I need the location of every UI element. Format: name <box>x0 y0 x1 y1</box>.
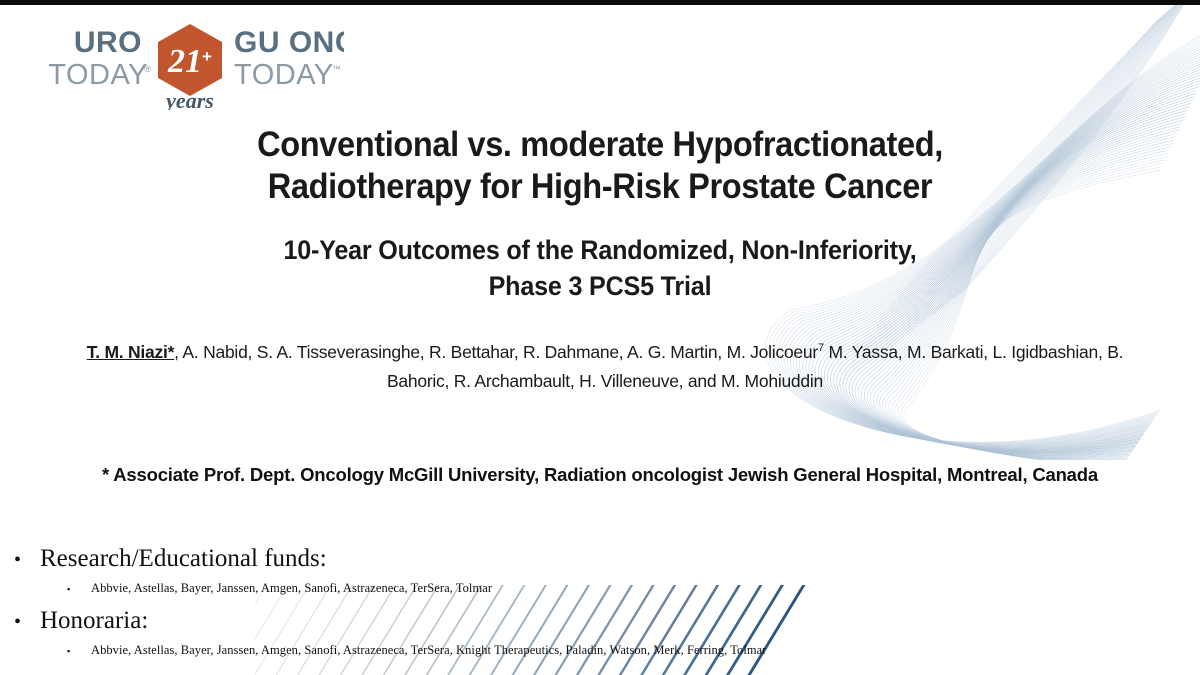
slide-subtitle: 10-Year Outcomes of the Randomized, Non-… <box>154 232 1047 304</box>
disclosure-sponsor-list: Abbvie, Astellas, Bayer, Janssen, Amgen,… <box>91 578 492 598</box>
author-list-segment-before-superscript: , A. Nabid, S. A. Tisseverasinghe, R. Be… <box>174 342 818 362</box>
slide-title-line-1: Conventional vs. moderate Hypofractionat… <box>154 124 1047 166</box>
disclosure-sub-row: ▪ Abbvie, Astellas, Bayer, Janssen, Amge… <box>14 640 1014 661</box>
disclosure-heading-label: Research/Educational funds: <box>40 543 327 575</box>
slide-title: Conventional vs. moderate Hypofractionat… <box>154 124 1047 208</box>
sub-bullet-icon: ▪ <box>67 579 91 599</box>
disclosure-sponsor-list: Abbvie, Astellas, Bayer, Janssen, Amgen,… <box>91 640 766 660</box>
disclosures-section: • Research/Educational funds: ▪ Abbvie, … <box>14 543 1014 667</box>
disclosure-heading-row: • Research/Educational funds: <box>14 543 1014 576</box>
affiliation-line: * Associate Prof. Dept. Oncology McGill … <box>20 464 1180 486</box>
slide-subtitle-line-1: 10-Year Outcomes of the Randomized, Non-… <box>154 232 1047 268</box>
slide-title-line-2: Radiotherapy for High-Risk Prostate Canc… <box>154 166 1047 208</box>
presenting-author-name: T. M. Niazi* <box>87 342 174 362</box>
top-letterbox-bar <box>0 0 1200 5</box>
presentation-slide: URO TODAY ® GU ONC TODAY ™ 21 + years Co… <box>0 0 1200 675</box>
author-list: T. M. Niazi*, A. Nabid, S. A. Tisseveras… <box>60 338 1150 396</box>
slide-subtitle-line-2: Phase 3 PCS5 Trial <box>154 268 1047 304</box>
bullet-icon: • <box>14 606 40 638</box>
bullet-icon: • <box>14 544 40 576</box>
disclosure-sub-row: ▪ Abbvie, Astellas, Bayer, Janssen, Amge… <box>14 578 1014 599</box>
disclosure-heading-row: • Honoraria: <box>14 605 1014 638</box>
sub-bullet-icon: ▪ <box>67 641 91 661</box>
disclosure-group-honoraria: • Honoraria: ▪ Abbvie, Astellas, Bayer, … <box>14 605 1014 661</box>
disclosure-group-research-funds: • Research/Educational funds: ▪ Abbvie, … <box>14 543 1014 599</box>
disclosure-heading-label: Honoraria: <box>40 605 148 637</box>
